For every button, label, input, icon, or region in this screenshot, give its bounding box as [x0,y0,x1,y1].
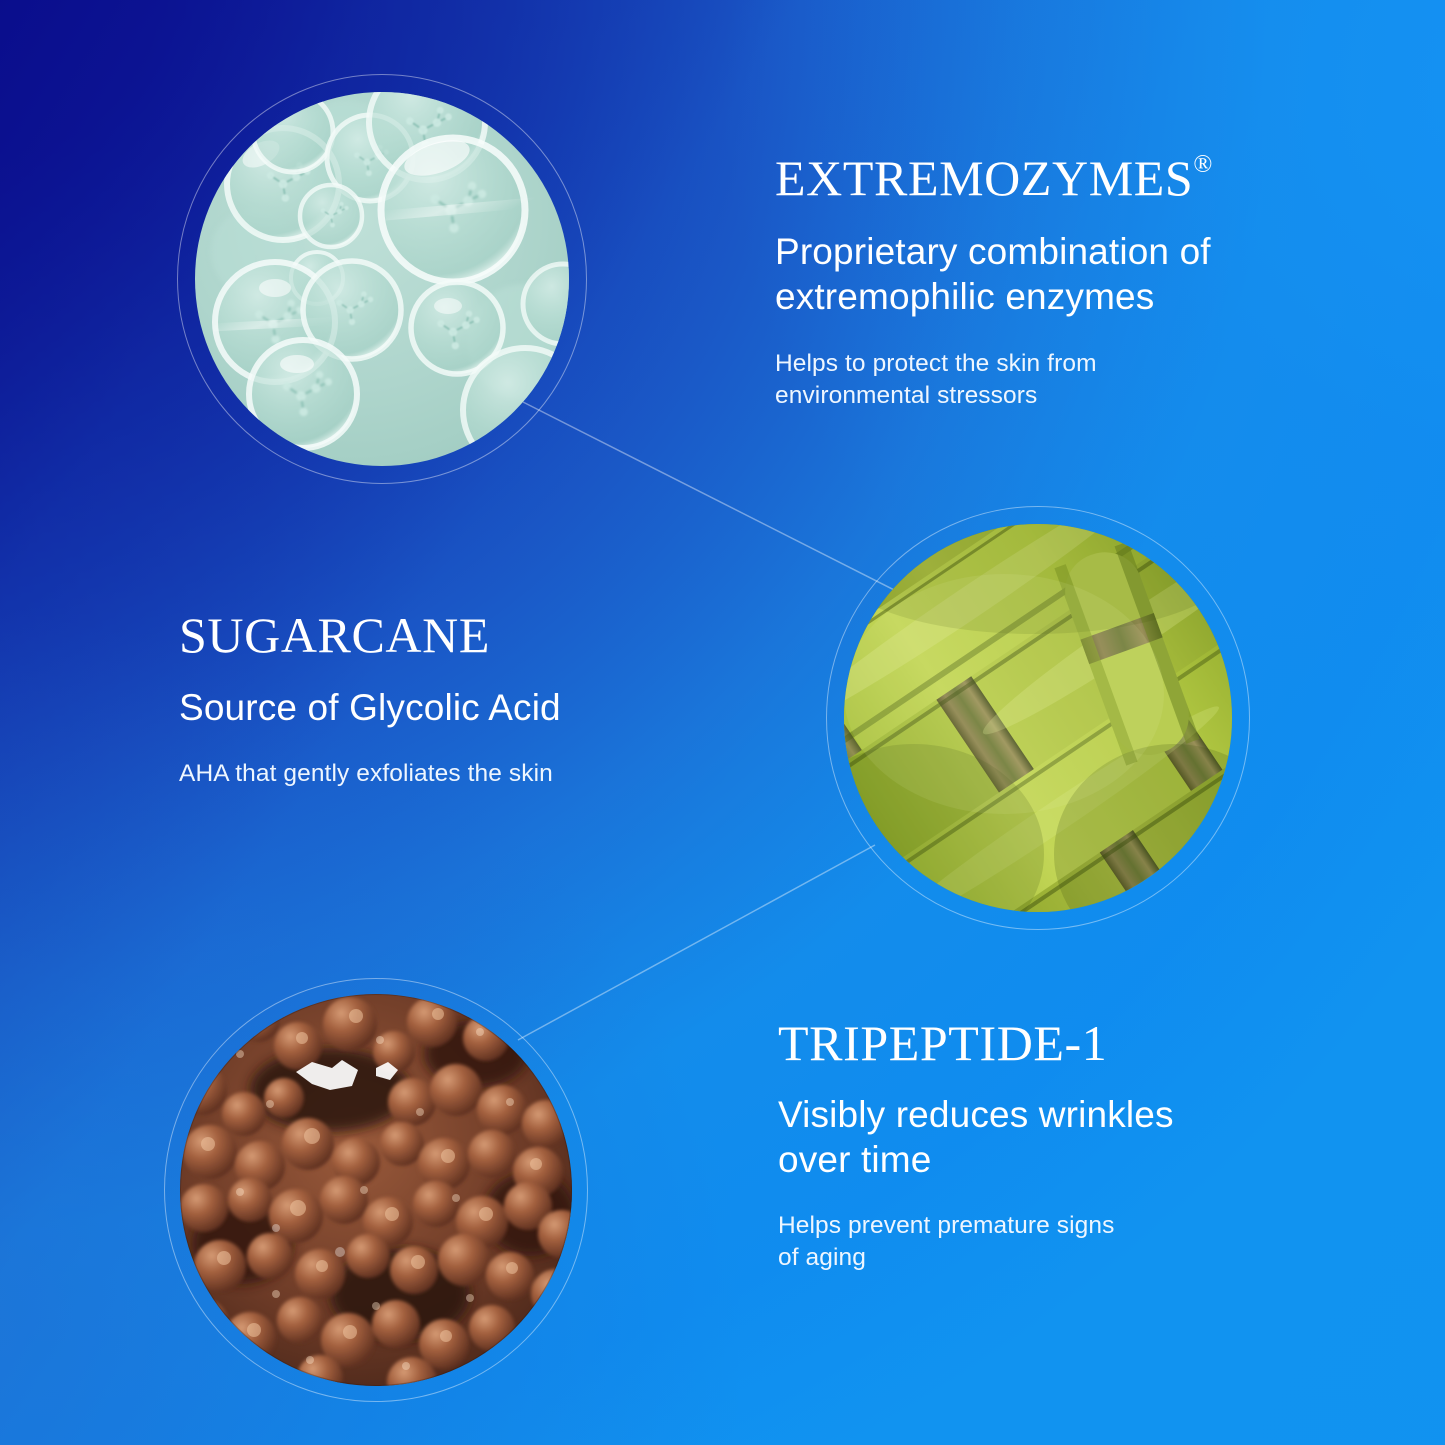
ingredient-subtitle-sugarcane: Source of Glycolic Acid [179,686,739,731]
ingredient-text-extremozymes: EXTREMOZYMES® Proprietary combination of… [775,152,1395,412]
description-line: Helps prevent premature signs [778,1210,1338,1242]
sugarcane-stalks-photo [844,524,1232,912]
description-line: Helps to protect the skin from [775,348,1395,380]
ingredient-text-sugarcane: SUGARCANE Source of Glycolic Acid AHA th… [179,610,739,790]
ingredient-title-tripeptide: TRIPEPTIDE-1 [778,1018,1338,1068]
registered-trademark-symbol: ® [1193,151,1212,178]
ingredient-circle-tripeptide [164,978,588,1402]
description-line: of aging [778,1242,1338,1274]
ingredient-subtitle-tripeptide: Visibly reduces wrinkles over time [778,1093,1338,1183]
description-line: environmental stressors [775,380,1395,412]
ingredient-text-tripeptide: TRIPEPTIDE-1 Visibly reduces wrinkles ov… [778,1018,1338,1274]
ingredient-title-text: SUGARCANE [179,607,490,663]
subtitle-line: Proprietary combination of [775,230,1395,275]
infographic-canvas: EXTREMOZYMES® Proprietary combination of… [0,0,1445,1445]
subtitle-line: Source of Glycolic Acid [179,686,739,731]
ingredient-subtitle-extremozymes: Proprietary combination of extremophilic… [775,230,1395,320]
ingredient-title-text: EXTREMOZYMES [775,150,1193,206]
ingredient-title-text: TRIPEPTIDE-1 [778,1015,1107,1071]
subtitle-line: over time [778,1138,1338,1183]
ingredient-title-extremozymes: EXTREMOZYMES® [775,152,1395,203]
ingredient-description-sugarcane: AHA that gently exfoliates the skin [179,758,739,790]
bubbles-molecules-photo [195,92,569,466]
ingredient-title-sugarcane: SUGARCANE [179,610,739,660]
description-line: AHA that gently exfoliates the skin [179,758,739,790]
subtitle-line: extremophilic enzymes [775,275,1395,320]
ingredient-description-extremozymes: Helps to protect the skin from environme… [775,348,1395,412]
ingredient-circle-sugarcane [826,506,1250,930]
subtitle-line: Visibly reduces wrinkles [778,1093,1338,1138]
ingredient-circle-extremozymes [177,74,587,484]
ingredient-description-tripeptide: Helps prevent premature signs of aging [778,1210,1338,1274]
copper-mineral-photo [180,994,572,1386]
